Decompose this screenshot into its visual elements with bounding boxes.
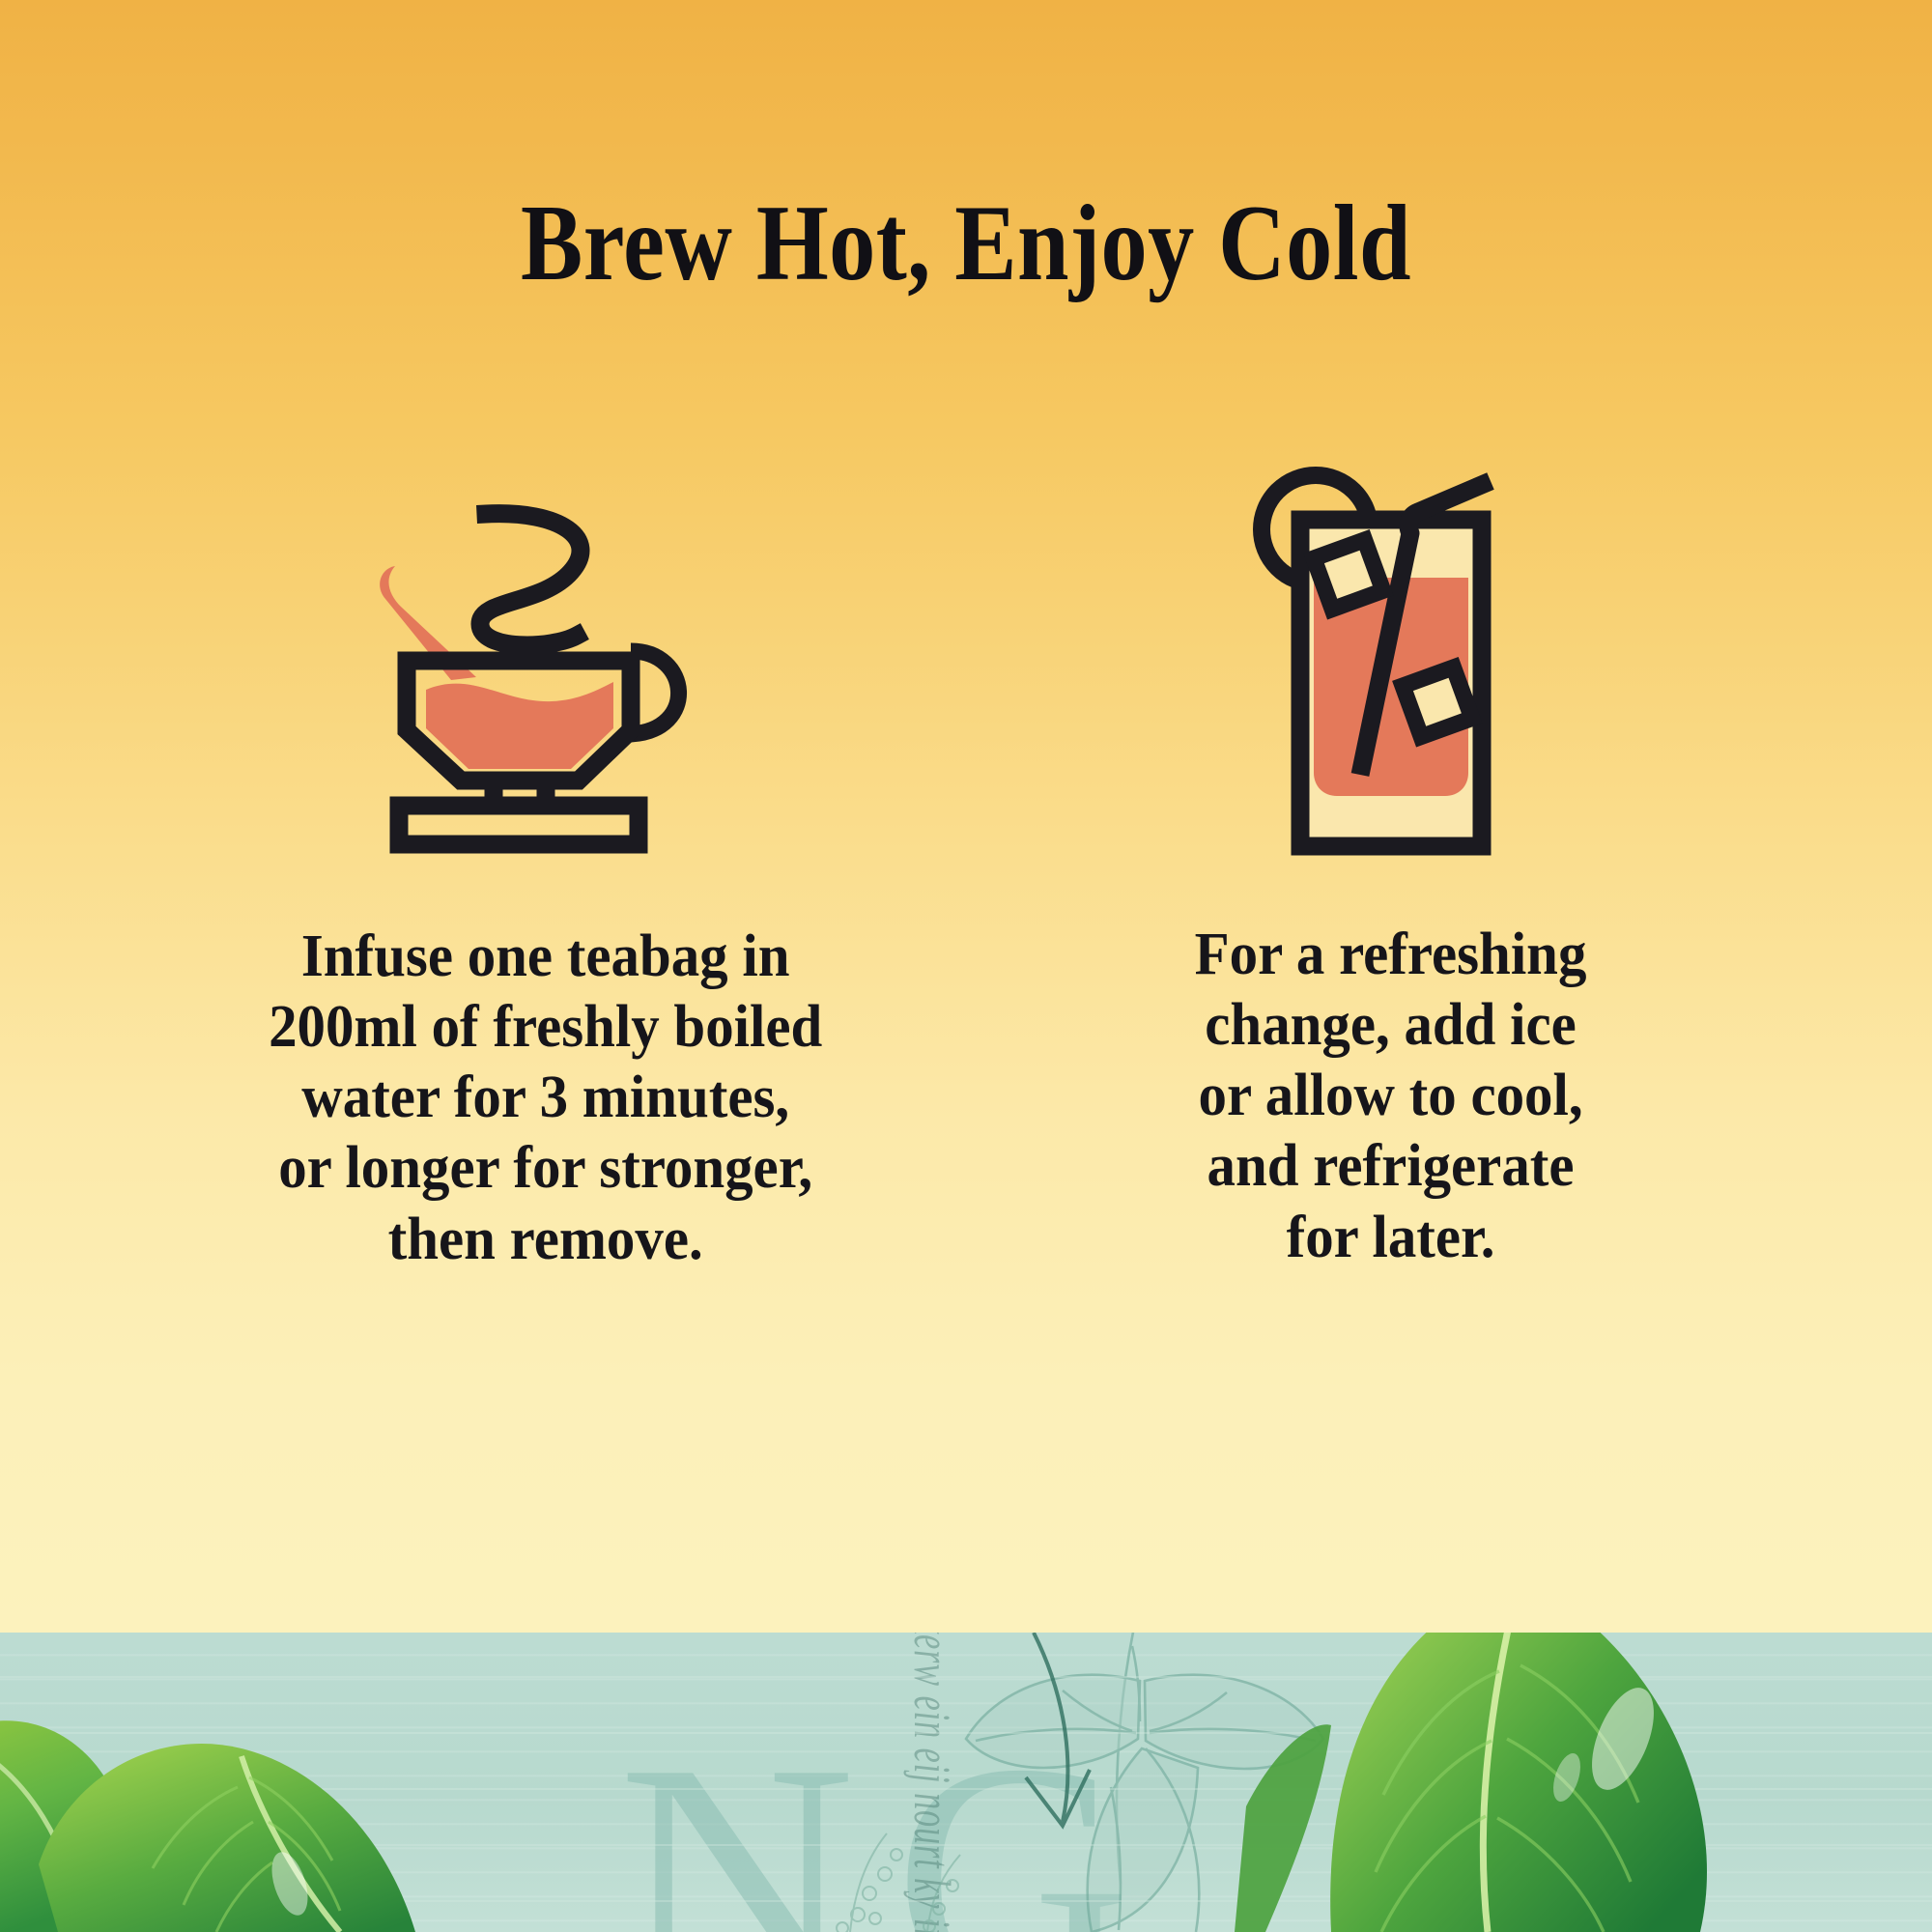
band-illustration [0,1633,1932,1932]
page-title: Brew Hot, Enjoy Cold [135,189,1797,298]
instruction-caption-brew-hot: Infuse one teabag in 200ml of freshly bo… [269,922,822,1275]
instruction-caption-enjoy-cold: For a refreshing change, add ice or allo… [1195,920,1587,1273]
footer-leaf-band: NG kerw ein eij nourt ky incert yo hieri… [0,1633,1932,1932]
teacup-with-steam-icon [372,462,720,867]
poster-root: Brew Hot, Enjoy Cold [0,0,1932,1932]
caption-line: then remove. [269,1205,822,1275]
caption-line: 200ml of freshly boiled [269,992,822,1063]
iced-drink-glass-icon [1246,454,1536,860]
caption-line: and refrigerate [1195,1131,1587,1202]
caption-line: or longer for stronger, [269,1133,822,1204]
caption-line: water for 3 minutes, [269,1063,822,1133]
instruction-column-enjoy-cold: For a refreshing change, add ice or allo… [1024,454,1932,1273]
caption-line: for later. [1195,1203,1587,1273]
instruction-columns: Infuse one teabag in 200ml of freshly bo… [0,454,1932,1594]
caption-line: or allow to cool, [1195,1061,1587,1131]
caption-line: change, add ice [1195,990,1587,1061]
instruction-column-brew-hot: Infuse one teabag in 200ml of freshly bo… [0,454,1024,1275]
caption-line: Infuse one teabag in [269,922,822,992]
caption-line: For a refreshing [1195,920,1587,990]
